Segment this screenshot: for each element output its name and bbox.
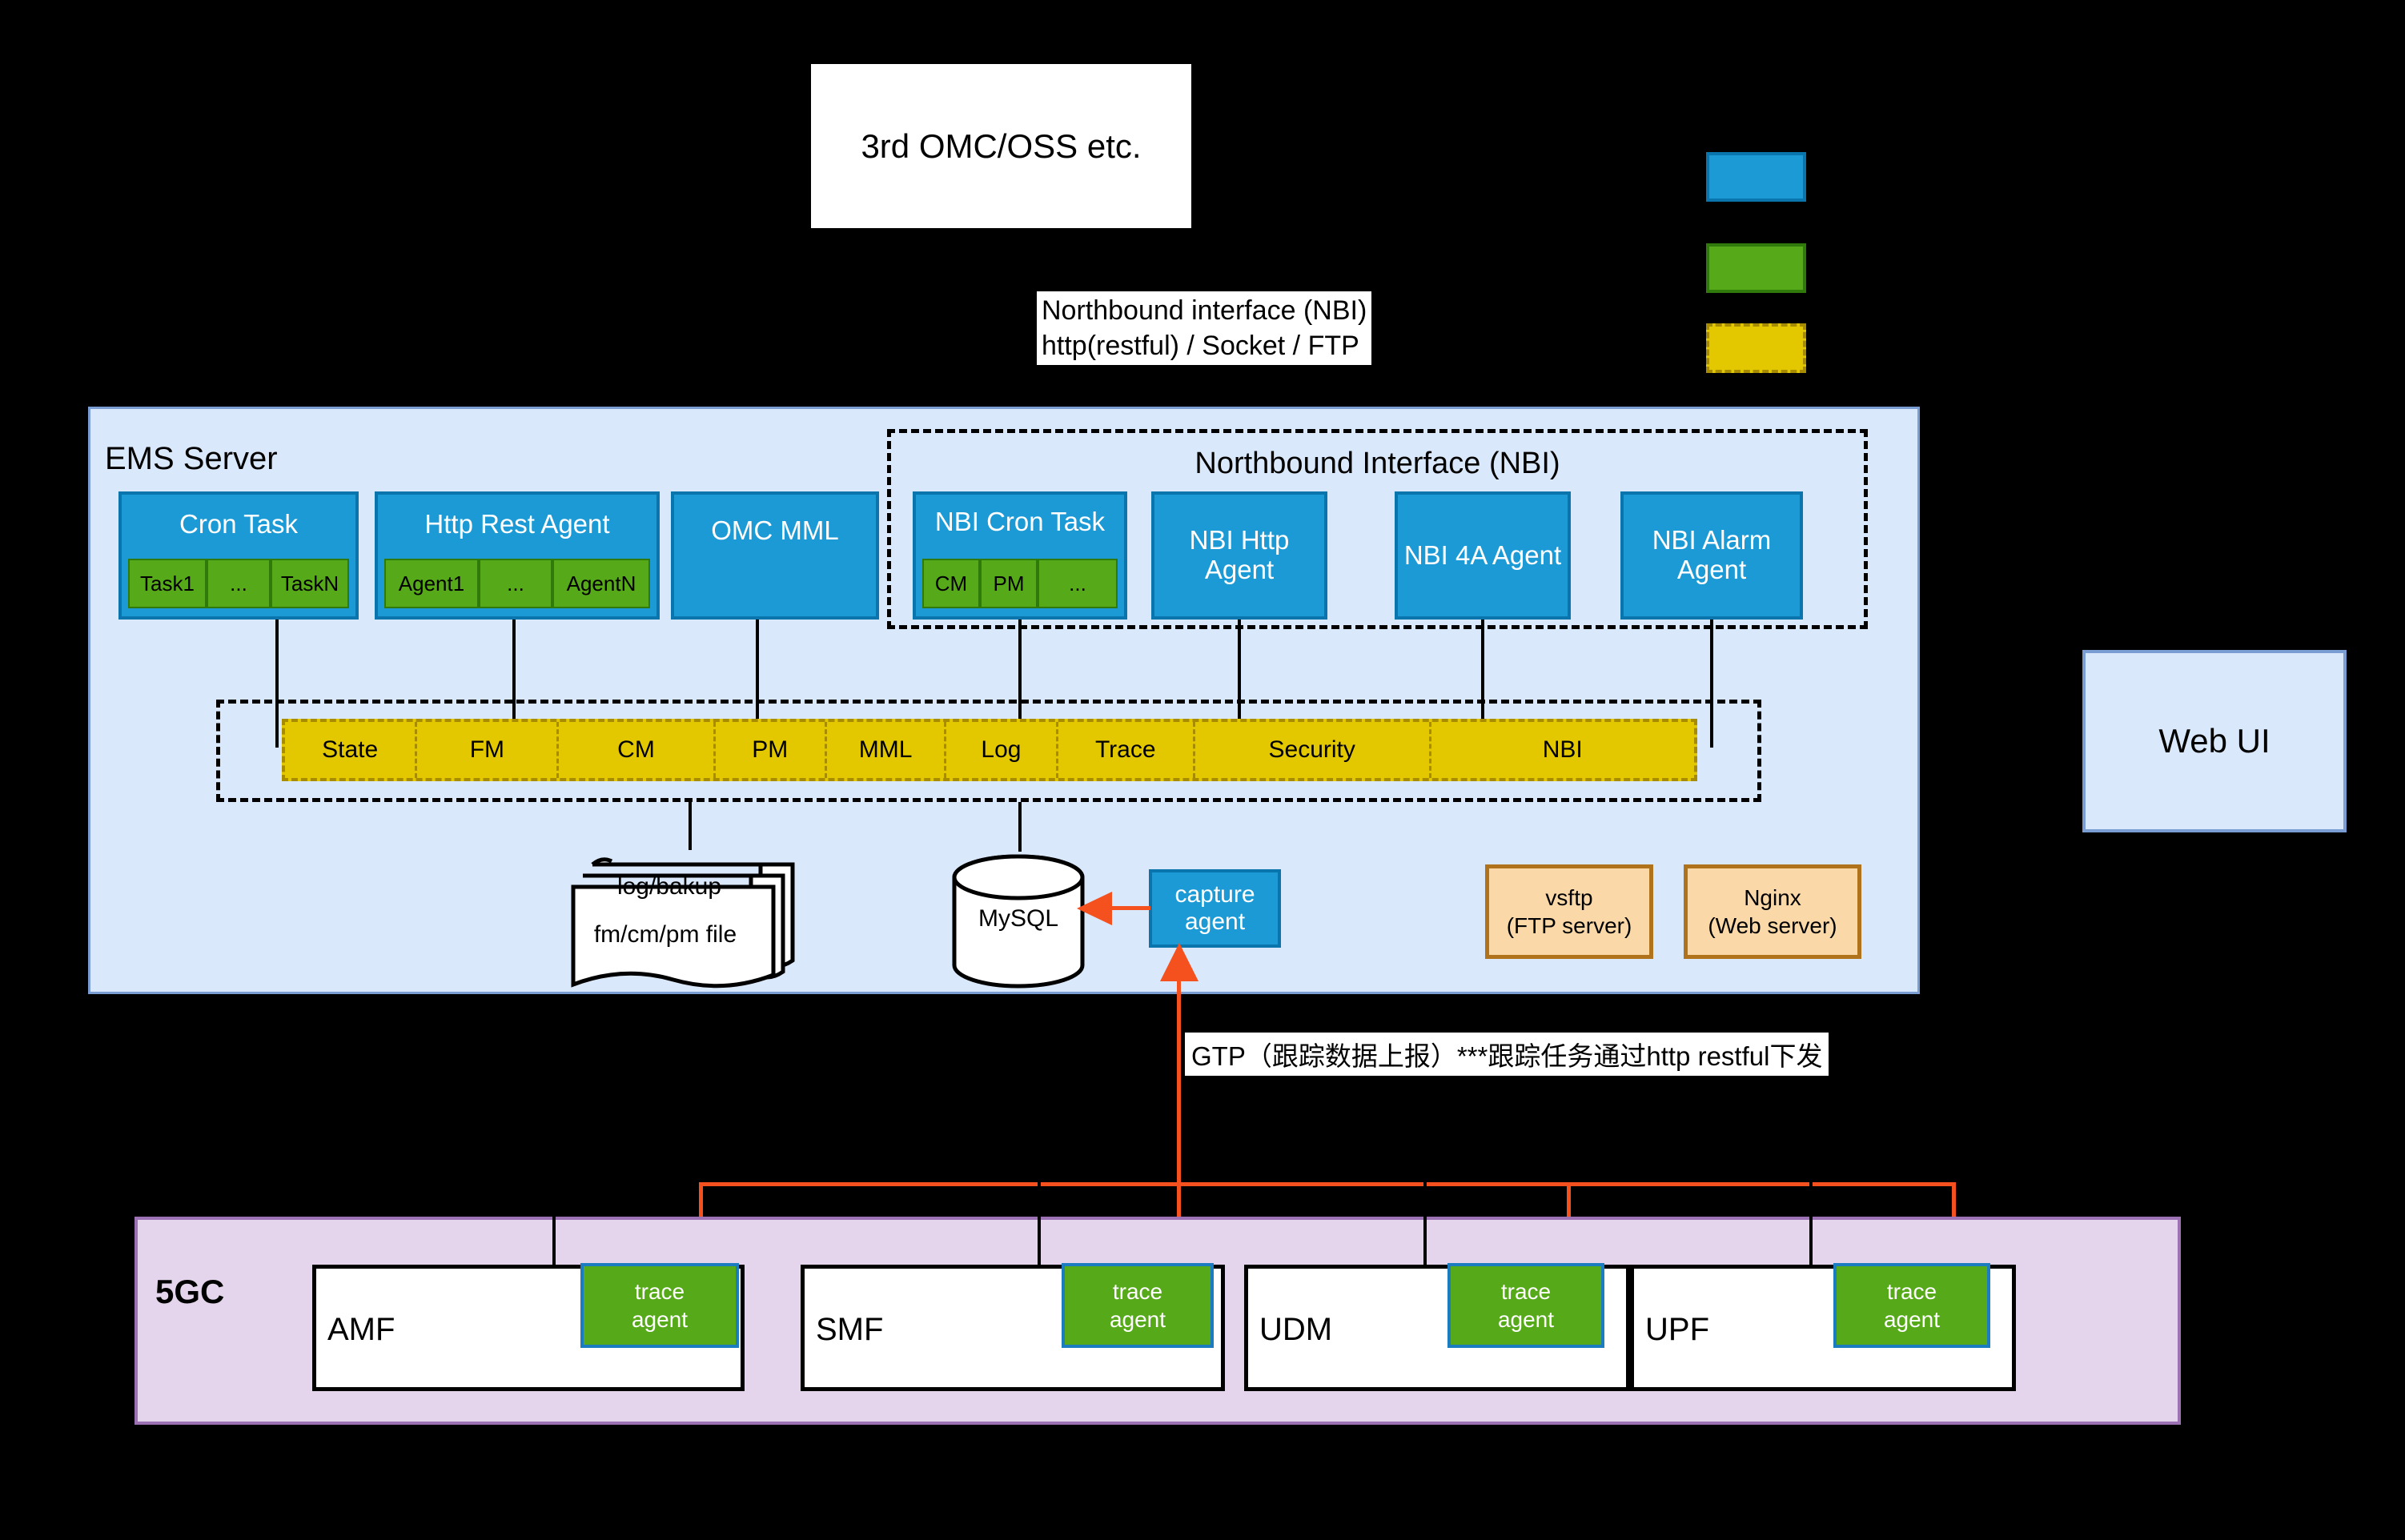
service-segment-nbi[interactable]: NBI [1431,722,1694,778]
chip-task-ellipsis: ... [207,559,271,608]
capture-agent-label-line1: capture [1152,881,1278,908]
trace-bus-horizontal [699,1182,1956,1186]
capture-agent-label-line2: agent [1152,908,1278,936]
chip-cm: CM [922,559,980,608]
trace-agent-smf[interactable]: trace agent [1062,1263,1214,1348]
trace-bus-arrowhead [1158,943,1200,985]
chip-nbi-ellipsis: ... [1038,559,1118,608]
trace-agent-upf-line1: trace [1887,1277,1937,1305]
trace-agent-udm-line1: trace [1501,1277,1551,1305]
database-label: MySQL [946,903,1090,935]
web-ui-box[interactable]: Web UI [2082,650,2347,832]
udm-label: UDM [1259,1312,1332,1348]
nbi-http-agent-label: NBI Http Agent [1154,526,1324,585]
nbi-note-line1: Northbound interface (NBI) [1042,293,1367,328]
trace-agent-smf-line1: trace [1113,1277,1162,1305]
nf-connector-smf [1038,1181,1041,1269]
upf-label: UPF [1645,1312,1709,1348]
nf-connector-udm [1423,1181,1427,1269]
nf-connector-amf [552,1181,556,1269]
legend-blue-swatch [1706,152,1806,202]
service-segment-log[interactable]: Log [946,722,1058,778]
service-segment-trace[interactable]: Trace [1058,722,1195,778]
chip-taskn: TaskN [271,559,349,608]
service-to-files-connector [689,802,692,850]
server-box-nginx[interactable]: Nginx (Web server) [1684,864,1861,959]
chip-task1: Task1 [128,559,207,608]
component-omc-mml[interactable]: OMC MML [671,491,879,620]
legend-yellow-swatch [1706,323,1806,373]
trace-agent-upf[interactable]: trace agent [1833,1263,1990,1348]
file-stack-label-line2: fm/cm/pm file [565,919,765,951]
server-box-vsftp[interactable]: vsftp (FTP server) [1485,864,1653,959]
trace-agent-amf-line2: agent [632,1305,688,1333]
nbi-alarm-agent-label: NBI Alarm Agent [1624,526,1800,585]
gtp-annotation: GTP（跟踪数据上报）***跟踪任务通过http restful下发 [1185,1033,1829,1076]
chip-agent-ellipsis: ... [479,559,552,608]
nbi-4a-agent-label: NBI 4A Agent [1398,541,1568,571]
northbound-interface-note: Northbound interface (NBI) http(restful)… [1037,291,1371,365]
trace-bus-riser [1177,977,1181,1185]
service-to-database-connector [1018,802,1022,852]
nbi-note-line2: http(restful) / Socket / FTP [1042,328,1367,363]
nbi-group-title: Northbound Interface (NBI) [891,446,1864,481]
nf-connector-upf [1809,1181,1813,1269]
service-segment-state[interactable]: State [285,722,417,778]
service-segment-security[interactable]: Security [1195,722,1431,778]
trace-agent-upf-line2: agent [1884,1305,1940,1333]
chip-agentn: AgentN [552,559,650,608]
capture-to-database-line [1109,906,1150,910]
vsftp-role: (FTP server) [1507,912,1632,940]
web-ui-label: Web UI [2158,722,2270,760]
http-rest-agent-label: Http Rest Agent [378,499,656,549]
ems-server-title: EMS Server [105,441,278,477]
service-segment-mml[interactable]: MML [827,722,946,778]
component-nbi-alarm-agent[interactable]: NBI Alarm Agent [1620,491,1803,620]
service-bus-bar: State FM CM PM MML Log Trace Security NB… [282,719,1697,781]
nbi-cron-task-label: NBI Cron Task [916,498,1124,546]
trace-agent-udm-line2: agent [1498,1305,1554,1333]
third-party-omc-oss-label: 3rd OMC/OSS etc. [861,127,1141,166]
oss-to-ems-connector [1002,228,1005,409]
third-party-omc-oss-box: 3rd OMC/OSS etc. [811,64,1191,228]
trace-agent-udm[interactable]: trace agent [1447,1263,1604,1348]
nginx-name: Nginx [1744,884,1801,912]
service-segment-pm[interactable]: PM [716,722,827,778]
chip-agent1: Agent1 [384,559,479,608]
component-capture-agent[interactable]: capture agent [1149,869,1281,948]
amf-label: AMF [327,1312,395,1348]
http-rest-agent-chips: Agent1 ... AgentN [384,559,650,608]
capture-to-database-arrowhead [1077,890,1114,927]
trace-agent-amf-line1: trace [635,1277,685,1305]
smf-label: SMF [816,1312,883,1348]
trace-agent-smf-line2: agent [1110,1305,1166,1333]
service-segment-cm[interactable]: CM [559,722,715,778]
chip-pm: PM [980,559,1038,608]
file-stack-label-line1: log/bakup [573,871,765,903]
nginx-role: (Web server) [1708,912,1837,940]
component-nbi-http-agent[interactable]: NBI Http Agent [1151,491,1327,620]
nbi-cron-task-chips: CM PM ... [922,559,1118,608]
cron-task-label: Cron Task [122,499,355,549]
service-segment-fm[interactable]: FM [417,722,559,778]
core-network-title: 5GC [155,1273,224,1311]
legend-green-swatch [1706,243,1806,293]
component-nbi-4a-agent[interactable]: NBI 4A Agent [1395,491,1571,620]
trace-agent-amf[interactable]: trace agent [580,1263,739,1348]
vsftp-name: vsftp [1545,884,1592,912]
cron-task-chips: Task1 ... TaskN [128,559,349,608]
omc-mml-label: OMC MML [674,516,876,546]
